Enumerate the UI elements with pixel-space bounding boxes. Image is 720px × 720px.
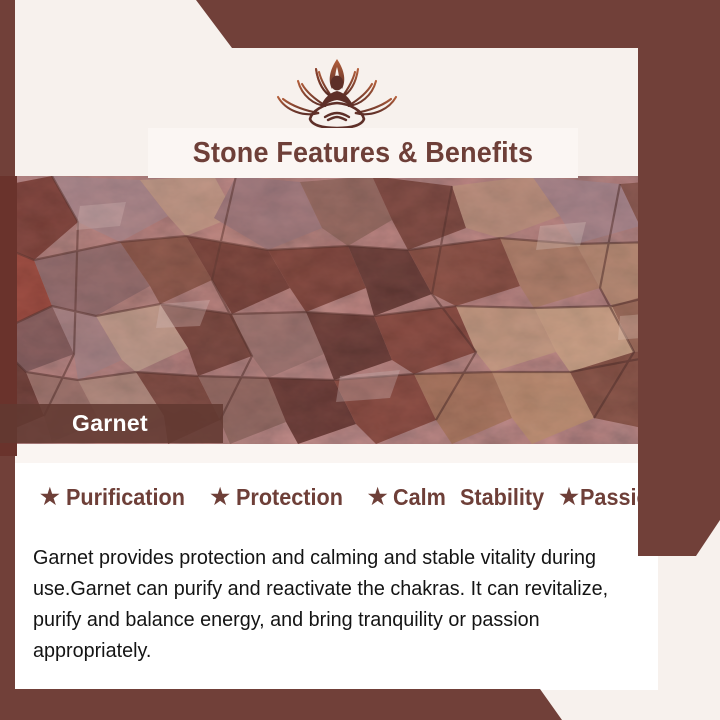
benefit-label: Purification — [66, 484, 185, 511]
benefit-item-calm: ★Calm — [368, 484, 450, 511]
stone-name: Garnet — [72, 410, 148, 437]
page-title: Stone Features & Benefits — [193, 137, 533, 170]
benefit-label: Protection — [236, 484, 343, 511]
photo-bottom-divider — [15, 444, 658, 463]
infographic-page: BUDDHA STONES — [0, 0, 720, 720]
star-icon: ★ — [559, 486, 579, 508]
frame-bottom-border — [0, 689, 720, 720]
benefit-item-stability: Stability — [460, 484, 549, 511]
benefits-row: ★Purification★Protection★CalmStability★P… — [40, 479, 690, 515]
frame-top-border — [0, 0, 720, 48]
star-icon: ★ — [210, 486, 230, 508]
frame-right-border — [638, 0, 720, 556]
star-icon: ★ — [40, 486, 60, 508]
benefit-item-purification: ★Purification — [40, 484, 192, 511]
benefit-label: Calm — [393, 484, 446, 511]
benefit-item-protection: ★Protection — [210, 484, 349, 511]
benefit-label: Stability — [460, 484, 544, 511]
title-plate: Stone Features & Benefits — [148, 128, 578, 178]
stone-description: Garnet provides protection and calming a… — [33, 542, 651, 666]
star-icon: ★ — [368, 486, 388, 508]
stone-name-band: Garnet — [0, 404, 223, 443]
lotus-meditation-icon — [262, 49, 412, 133]
